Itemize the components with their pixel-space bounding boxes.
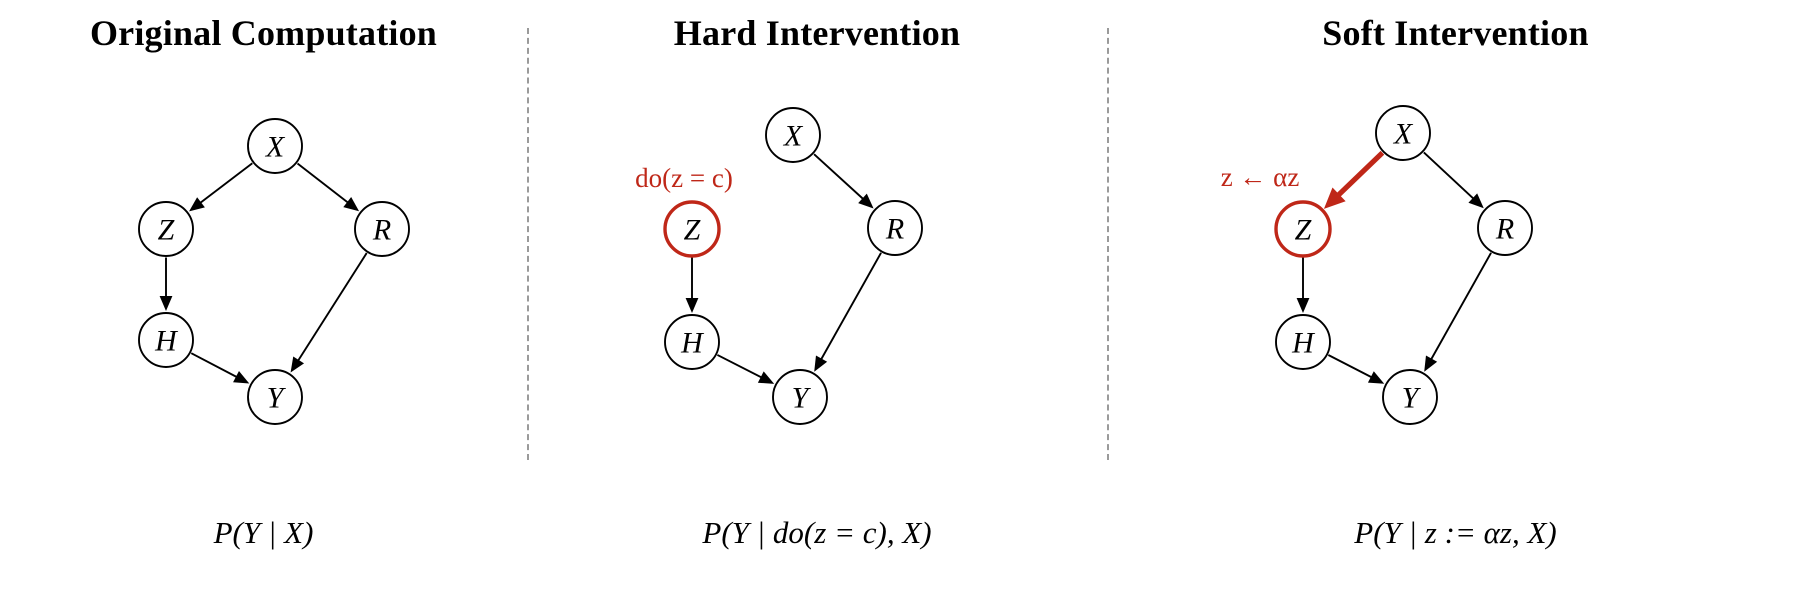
node-label-z: Z: [684, 214, 701, 247]
node-h: H: [1276, 315, 1330, 369]
arrowhead-R-to-Y: [814, 356, 827, 372]
node-label-h: H: [680, 327, 705, 360]
node-label-h: H: [154, 325, 179, 358]
arrowhead-Z-to-H: [1297, 298, 1310, 313]
node-h: H: [139, 313, 193, 367]
arrowhead-R-to-Y: [1424, 356, 1437, 372]
node-z: Z: [139, 202, 193, 256]
node-y: Y: [773, 370, 827, 424]
edge-H-to-Y: [717, 355, 774, 384]
panel-caption-original: P(Y | X): [0, 515, 527, 551]
panel-caption-hard: P(Y | do(z = c), X): [527, 515, 1107, 551]
panel-title-hard: Hard Intervention: [527, 12, 1107, 54]
edge-H-to-Y: [191, 353, 249, 383]
edge-X-to-R: [1424, 152, 1484, 208]
node-label-z: Z: [158, 214, 175, 247]
panel-caption-soft: P(Y | z := αz, X): [1107, 515, 1804, 551]
node-label-r: R: [885, 213, 904, 246]
edge-X-to-Z: [1324, 153, 1383, 209]
arrowhead-X-to-R: [343, 197, 359, 211]
node-label-r: R: [1495, 213, 1514, 246]
node-x: X: [766, 108, 820, 162]
node-z: Z: [1276, 202, 1330, 256]
panel-title-soft: Soft Intervention: [1107, 12, 1804, 54]
arrowhead-X-to-Z: [189, 197, 205, 211]
node-label-r: R: [372, 214, 391, 247]
node-label-x: X: [265, 131, 286, 164]
annotation-soft-label: z ← αz: [1221, 162, 1300, 192]
causal-graph-hard: XZRHYdo(z = c): [527, 80, 1107, 500]
node-r: R: [1478, 201, 1532, 255]
node-label-h: H: [1291, 327, 1316, 360]
node-label-z: Z: [1295, 214, 1312, 247]
panel-hard: Hard InterventionXZRHYdo(z = c)P(Y | do(…: [527, 0, 1107, 604]
panel-original: Original ComputationXZRHYP(Y | X): [0, 0, 527, 604]
node-y: Y: [248, 370, 302, 424]
arrowhead-Z-to-H: [160, 296, 173, 311]
node-label-x: X: [1393, 118, 1414, 151]
edge-Z-to-H: [160, 258, 173, 312]
node-h: H: [665, 315, 719, 369]
causal-graph-original: XZRHY: [0, 80, 527, 500]
causal-intervention-figure: Original ComputationXZRHYP(Y | X)Hard In…: [0, 0, 1804, 604]
annotation-do-label: do(z = c): [635, 163, 733, 193]
edge-H-to-Y: [1328, 355, 1384, 384]
edge-R-to-Y: [291, 253, 367, 373]
edge-X-to-Z: [189, 163, 252, 211]
arrowhead-R-to-Y: [291, 356, 304, 372]
edge-X-to-R: [298, 163, 360, 211]
node-z: Z: [665, 202, 719, 256]
panel-soft: Soft InterventionXZRHYz ← αzP(Y | z := α…: [1107, 0, 1804, 604]
node-r: R: [868, 201, 922, 255]
edge-R-to-Y: [814, 253, 881, 372]
edge-X-to-R: [814, 154, 874, 208]
node-label-x: X: [783, 120, 804, 153]
node-x: X: [248, 119, 302, 173]
causal-graph-soft: XZRHYz ← αz: [1107, 80, 1804, 500]
edge-Z-to-H: [686, 258, 699, 314]
edge-Z-to-H: [1297, 258, 1310, 314]
node-y: Y: [1383, 370, 1437, 424]
arrowhead-Z-to-H: [686, 298, 699, 313]
node-x: X: [1376, 106, 1430, 160]
node-r: R: [355, 202, 409, 256]
panel-title-original: Original Computation: [0, 12, 527, 54]
edge-R-to-Y: [1424, 253, 1491, 372]
